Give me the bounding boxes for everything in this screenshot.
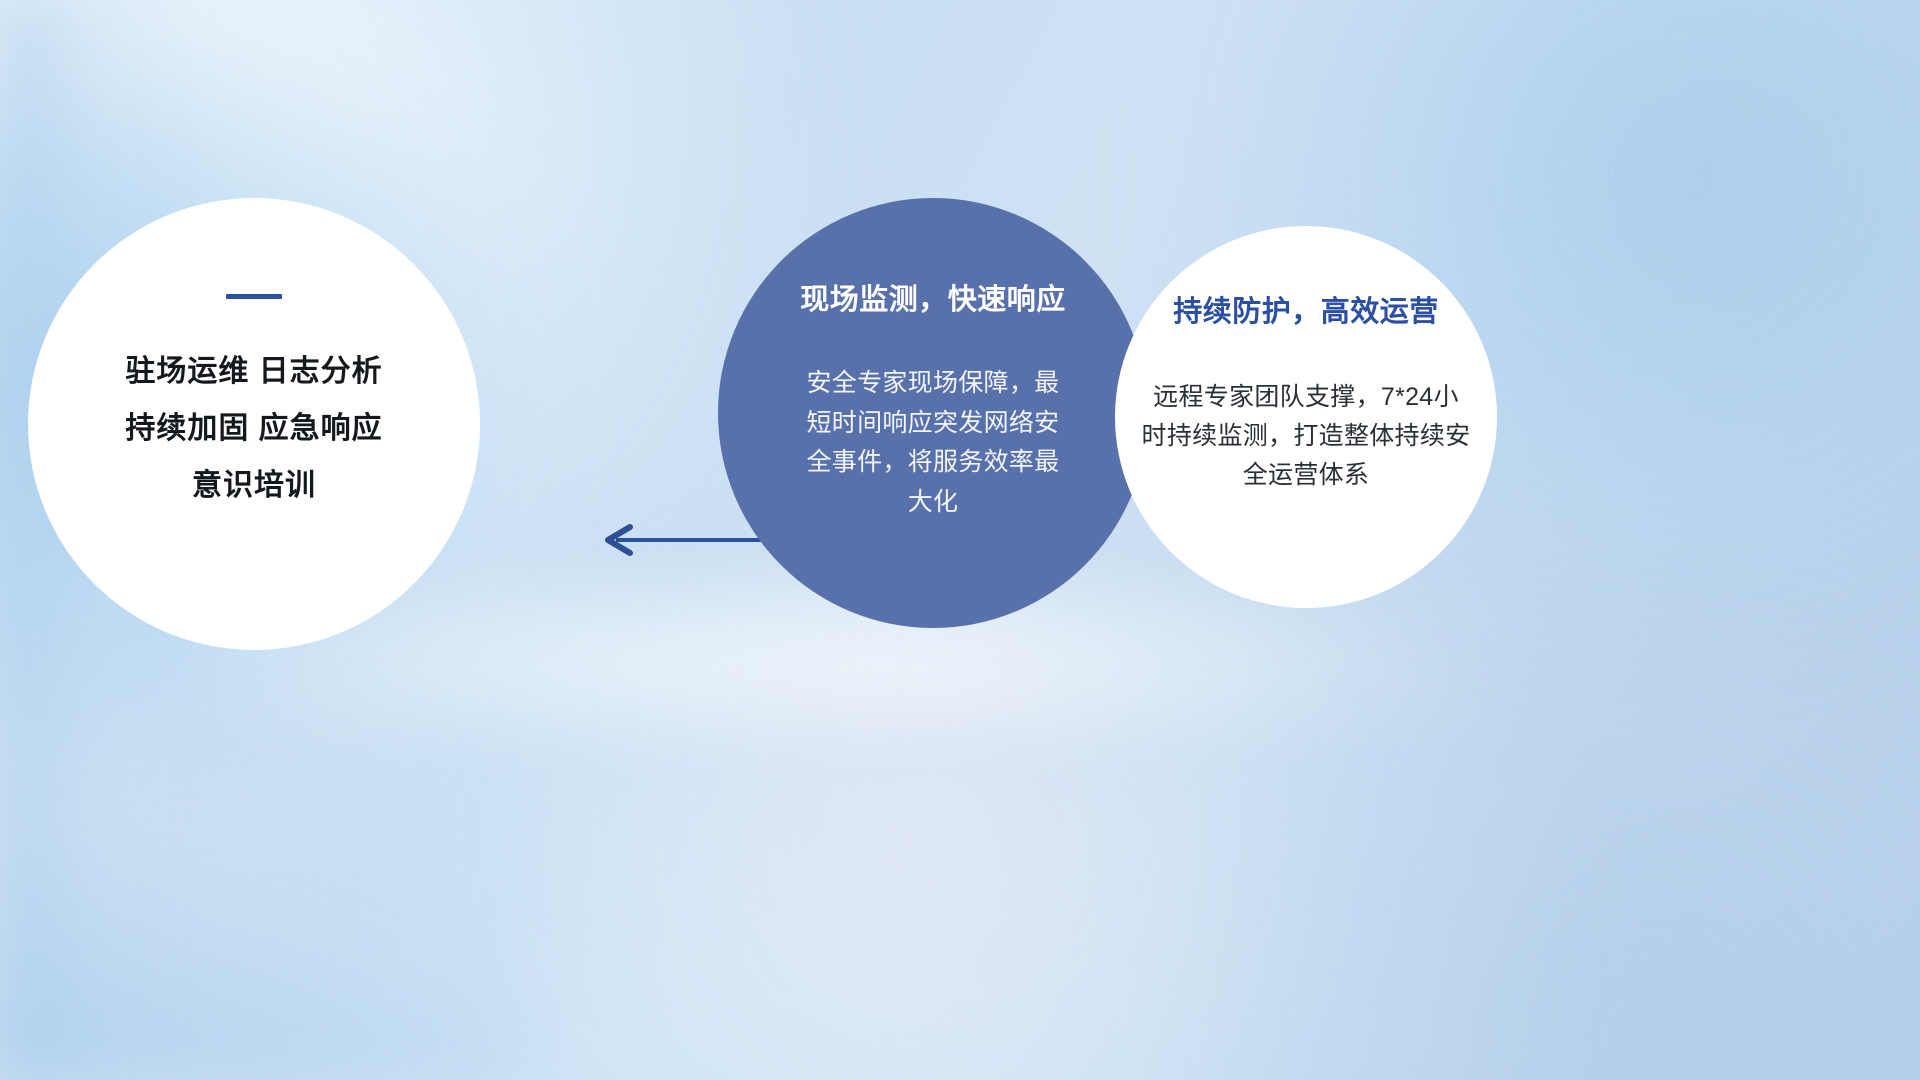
feature-circle-onsite-title: 现场监测，快速响应 xyxy=(800,276,1066,318)
feature-circle-onsite-body: 安全专家现场保障，最短时间响应突发网络安全事件，将服务效率最大化 xyxy=(798,364,1068,522)
feature-circle-operations-body: 远程专家团队支撑，7*24小时持续监测，打造整体持续安全运营体系 xyxy=(1141,378,1471,495)
feature-circle-operations[interactable]: 持续防护，高效运营 远程专家团队支撑，7*24小时持续监测，打造整体持续安全运营… xyxy=(1115,226,1497,608)
feature-circle-onsite[interactable]: 现场监测，快速响应 安全专家现场保障，最短时间响应突发网络安全事件，将服务效率最… xyxy=(718,198,1148,628)
capability-circle-left[interactable]: 驻场运维 日志分析 持续加固 应急响应 意识培训 xyxy=(28,198,480,650)
background-vignette-bottom-left xyxy=(0,820,520,1080)
capability-line-1: 驻场运维 日志分析 xyxy=(125,355,382,388)
capability-line-3: 意识培训 xyxy=(192,469,316,502)
slide-canvas: 驻场运维 日志分析 持续加固 应急响应 意识培训 现场监测，快速响应 安全专家现… xyxy=(0,0,1920,1080)
feature-circle-operations-title: 持续防护，高效运营 xyxy=(1173,288,1439,330)
capability-line-2: 持续加固 应急响应 xyxy=(125,412,382,445)
accent-dash-icon xyxy=(226,294,282,299)
capability-list: 驻场运维 日志分析 持续加固 应急响应 意识培训 xyxy=(28,355,480,502)
